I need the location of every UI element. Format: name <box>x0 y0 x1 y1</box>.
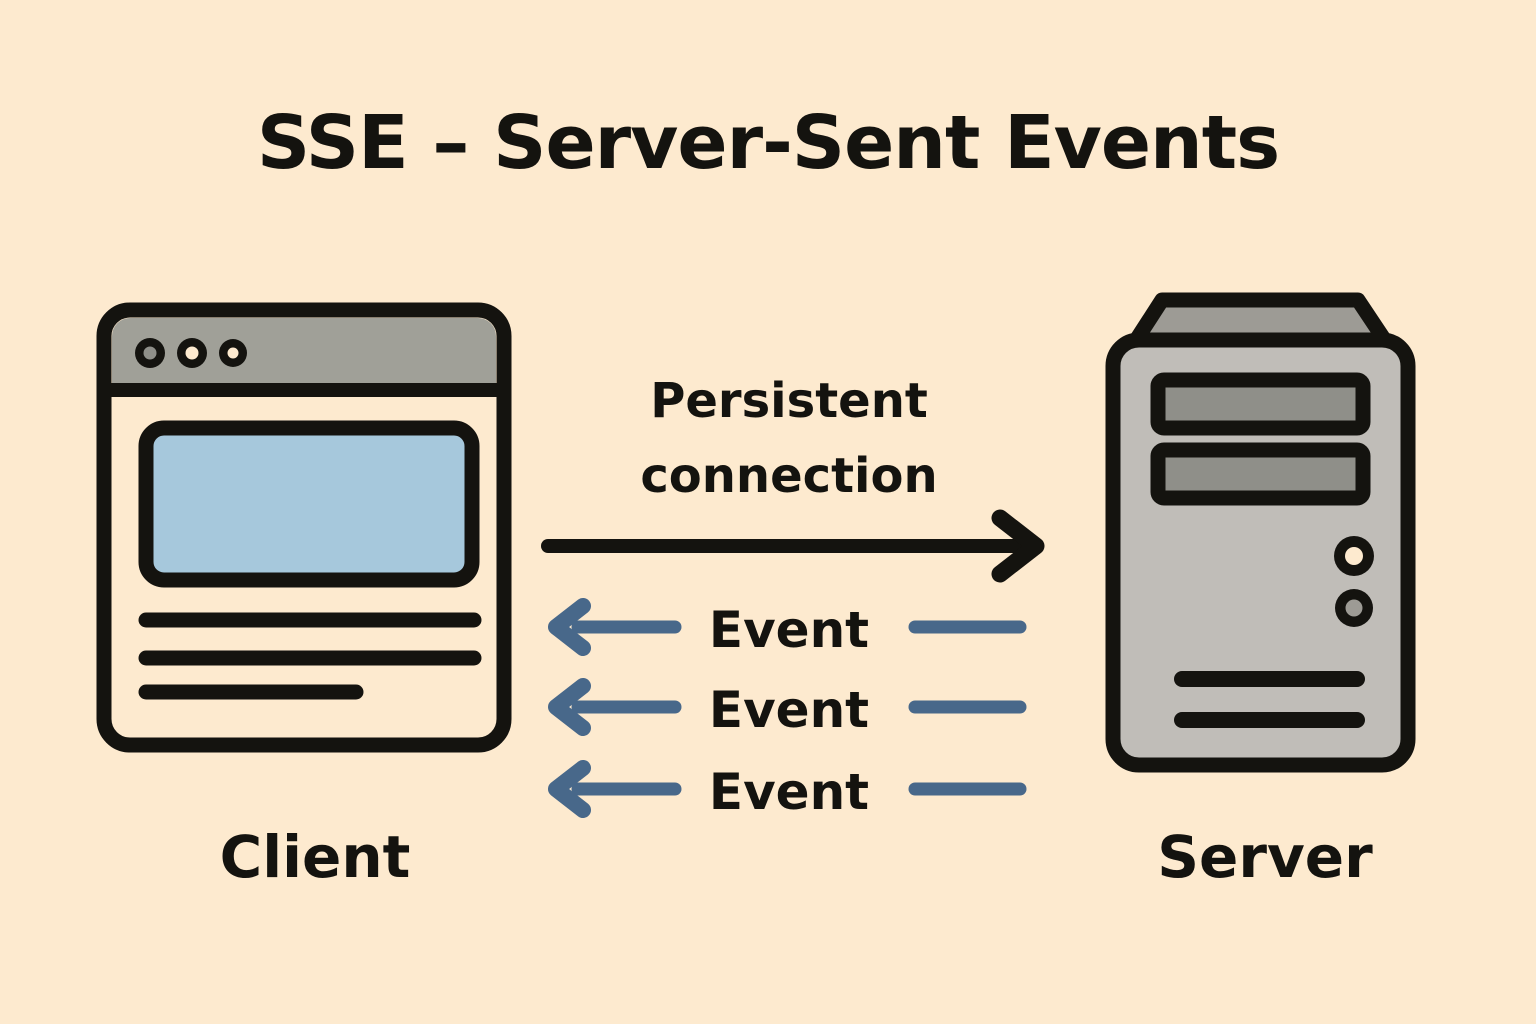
window-dot-2[interactable] <box>177 338 207 368</box>
connection-label-line-1: Persistent <box>650 373 928 429</box>
event-row-1: Event <box>556 601 1020 659</box>
browser-content-block <box>146 428 472 580</box>
persistent-connection-arrow <box>548 518 1036 574</box>
server-label: Server <box>1157 823 1373 891</box>
diagram-canvas: SSE – Server-Sent Events <box>0 0 1536 1024</box>
server-power-indicator[interactable] <box>1334 536 1374 576</box>
client-browser-window <box>104 310 504 745</box>
event-label-3: Event <box>709 763 869 821</box>
window-dot-3[interactable] <box>219 339 247 367</box>
client-label: Client <box>220 823 411 891</box>
sse-diagram-svg: SSE – Server-Sent Events <box>0 0 1536 1024</box>
server-tower <box>1113 300 1408 765</box>
event-label-1: Event <box>709 601 869 659</box>
window-dot-1[interactable] <box>135 338 165 368</box>
server-drive-bay-1 <box>1158 380 1363 428</box>
event-row-3: Event <box>556 763 1020 821</box>
browser-titlebar <box>112 318 496 388</box>
event-label-2: Event <box>709 681 869 739</box>
connection-label-line-2: connection <box>640 448 937 504</box>
server-activity-indicator[interactable] <box>1335 589 1373 627</box>
diagram-title: SSE – Server-Sent Events <box>257 100 1279 186</box>
event-row-2: Event <box>556 681 1020 739</box>
server-drive-bay-2 <box>1158 450 1363 498</box>
